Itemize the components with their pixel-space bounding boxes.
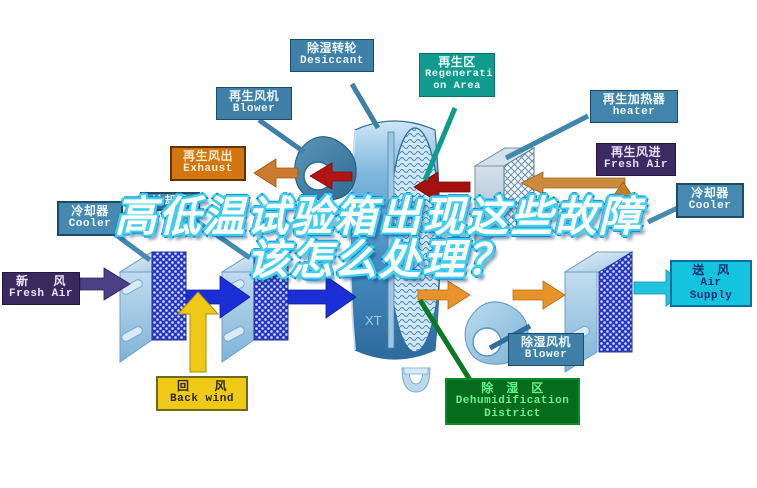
label-regen-area-cn: 再生区 [425, 56, 489, 69]
label-air-supply[interactable]: 送 风 Air Supply [670, 260, 752, 307]
leader-heater [506, 116, 588, 158]
label-air-supply-en: Air Supply [677, 277, 745, 302]
label-regen-fresh-cn: 再生风进 [602, 146, 670, 159]
label-regen-fresh-air[interactable]: 再生风进 Fresh Air [596, 143, 676, 176]
label-cooler-left-1[interactable]: 冷却器 Cooler [57, 201, 123, 236]
label-air-supply-cn: 送 风 [677, 264, 745, 277]
label-back-wind-en: Back wind [163, 393, 241, 405]
label-heater-cn: 再生加热器 [596, 93, 672, 106]
label-dehum-district[interactable]: 除 湿 区 Dehumidification District [445, 378, 580, 425]
label-fresh-air-in[interactable]: 新 风 Fresh Air [2, 272, 80, 305]
label-exhaust-en: Exhaust [177, 163, 239, 175]
label-cooler-right-cn: 冷却器 [683, 187, 737, 200]
label-dehum-en1: Dehumidification [452, 395, 573, 407]
label-dehum-blower-cn: 除湿风机 [514, 336, 578, 349]
label-cooler-right[interactable]: 冷却器 Cooler [676, 183, 744, 218]
dry-air-arrow-2 [513, 281, 565, 309]
label-dehum-blower[interactable]: 除湿风机 Blower [508, 333, 584, 366]
label-dehum-blower-en: Blower [514, 349, 578, 361]
leader-desiccant [352, 84, 378, 128]
regen-heater-coil [475, 148, 534, 248]
leader-cooler-left-1 [112, 232, 150, 260]
drain-tray [402, 368, 430, 392]
label-dehum-en2: District [452, 408, 573, 420]
svg-text:XT: XT [365, 313, 382, 328]
label-desiccant-wheel[interactable]: 除湿转轮 Desiccant [290, 39, 374, 72]
label-cooler2-cn: 冷却器 [146, 195, 194, 207]
label-regen-fresh-en: Fresh Air [602, 159, 670, 171]
label-regen-blower-cn: 再生风机 [222, 90, 286, 103]
label-dehum-cn: 除 湿 区 [452, 382, 573, 395]
label-cooler-cn: 冷却器 [64, 205, 116, 218]
cooler-coil-1 [120, 252, 186, 362]
label-regen-exhaust[interactable]: 再生风出 Exhaust [170, 146, 246, 181]
label-fresh-air-cn: 新 风 [8, 275, 74, 288]
leader-cooler-left-2 [186, 214, 250, 258]
leader-regen-blower [259, 120, 304, 152]
label-desiccant-en: Desiccant [296, 55, 368, 67]
label-exhaust-cn: 再生风出 [177, 150, 239, 163]
label-regen-blower-en: Blower [222, 103, 286, 115]
label-fresh-air-en: Fresh Air [8, 288, 74, 300]
label-back-wind[interactable]: 回 风 Back wind [156, 376, 248, 411]
label-cooler-en: Cooler [64, 218, 116, 230]
label-regen-area[interactable]: 再生区 Regenerati on Area [419, 53, 495, 97]
label-regen-blower[interactable]: 再生风机 Blower [216, 87, 292, 120]
process-arrow-2 [288, 276, 356, 318]
diagram-canvas: XT [0, 0, 757, 488]
label-back-wind-cn: 回 风 [163, 380, 241, 393]
label-cooler-right-en: Cooler [683, 200, 737, 212]
label-regen-heater[interactable]: 再生加热器 heater [590, 90, 678, 123]
label-desiccant-cn: 除湿转轮 [296, 42, 368, 55]
label-regen-area-en2: on Area [425, 81, 489, 93]
label-heater-en: heater [596, 106, 672, 118]
diagram-artwork: XT [0, 0, 757, 488]
fresh-air-up-arrow [612, 182, 634, 230]
desiccant-rotor: XT [350, 121, 441, 359]
exhaust-arrow [254, 159, 298, 187]
label-cooler-left-2[interactable]: 冷却器 [140, 192, 200, 211]
